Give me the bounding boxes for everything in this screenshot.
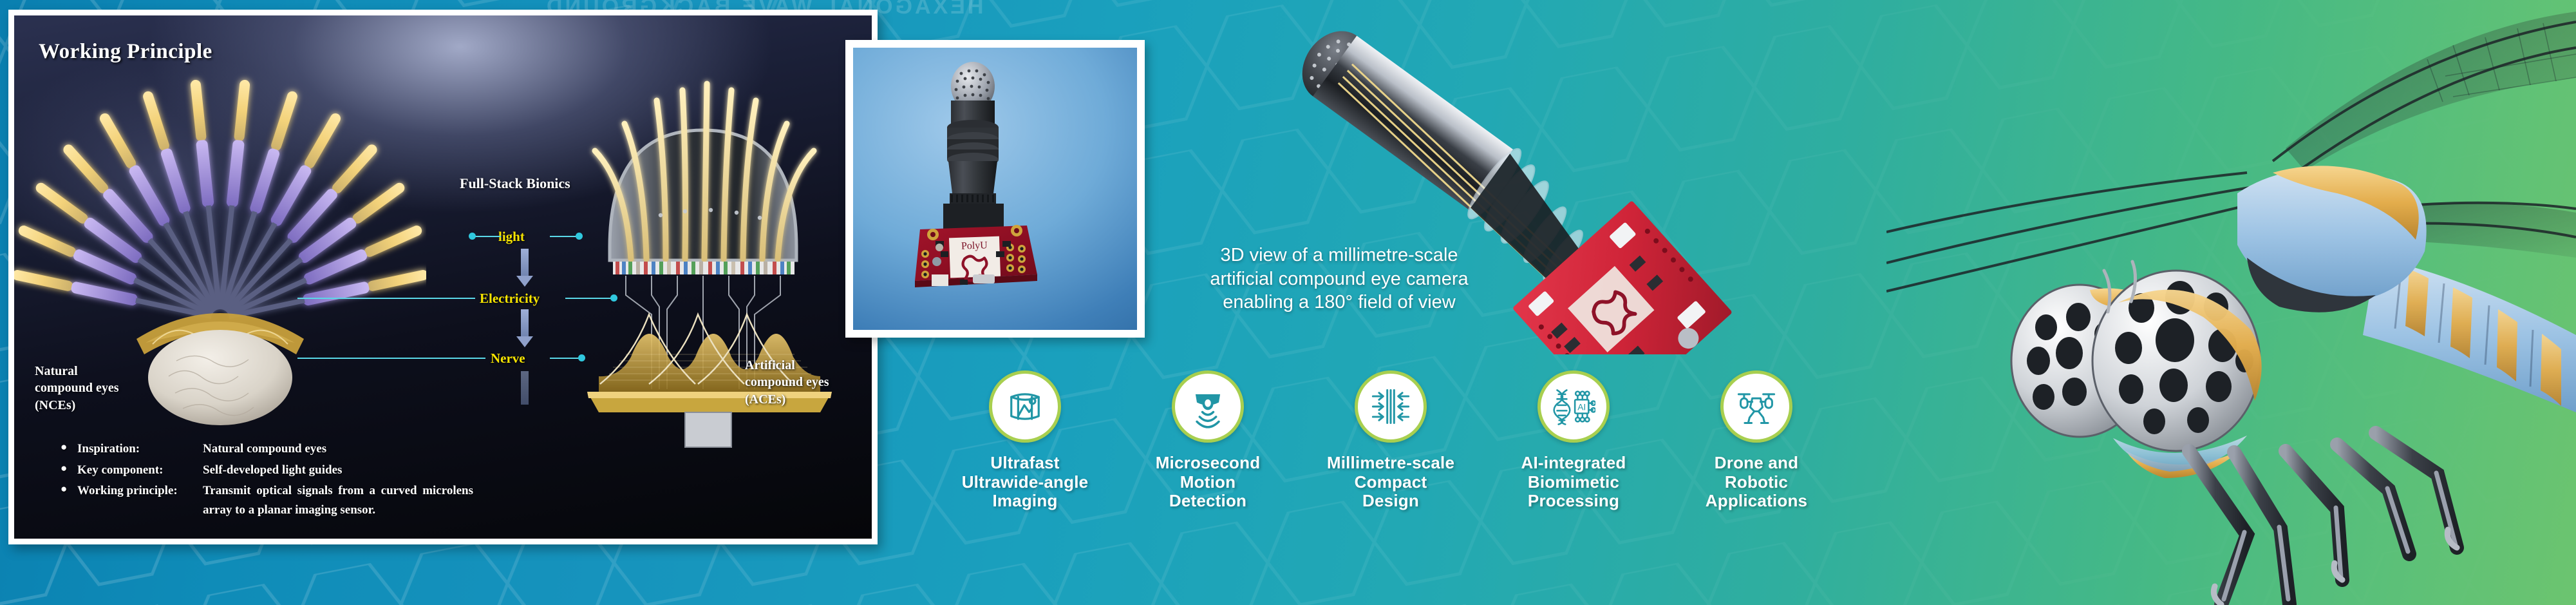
connector-line-electricity-right <box>565 298 614 299</box>
bullet-marker: ● <box>61 461 77 477</box>
page-title: Working Principle <box>39 40 212 64</box>
camera-module-photo: PolyU <box>853 48 1137 330</box>
feature-icon-circle <box>1720 370 1792 443</box>
motion-sensor-icon <box>1186 385 1230 428</box>
nce-line-3: (NCEs) <box>35 397 119 414</box>
bullet-value: Transmit optical signals from a curved m… <box>203 481 473 519</box>
connector-dot-light-left <box>469 233 476 240</box>
feature-label: Microsecond Motion Detection <box>1156 454 1261 511</box>
feature-item-compact-design[interactable]: Millimetre-scale Compact Design <box>1299 370 1482 599</box>
bullet-marker: ● <box>61 439 77 456</box>
bullet-row-working-principle: ● Working principle: Transmit optical si… <box>61 481 794 519</box>
connector-line-light-right <box>550 236 578 237</box>
feature-label: Drone and Robotic Applications <box>1706 454 1807 511</box>
render-caption-line-1: 3D view of a millimetre-scale <box>1156 244 1523 267</box>
bullet-row-key-component: ● Key component: Self-developed light gu… <box>61 461 794 480</box>
nce-line-1: Natural <box>35 363 119 379</box>
connector-line-electricity-left <box>297 298 475 299</box>
feature-item-motion-detection[interactable]: Microsecond Motion Detection <box>1116 370 1299 599</box>
render-caption-line-2: artificial compound eye camera <box>1156 267 1523 291</box>
feature-label: AI-integrated Biomimetic Processing <box>1521 454 1626 511</box>
feature-item-drone-robotics[interactable]: Drone and Robotic Applications <box>1665 370 1848 599</box>
natural-compound-eyes-label: Natural compound eyes (NCEs) <box>35 363 119 414</box>
feature-item-ai-biomimetic[interactable]: AI AI-integrated Biomimetic Processing <box>1482 370 1665 599</box>
render-caption: 3D view of a millimetre-scale artificial… <box>1156 244 1523 314</box>
feature-icon-circle <box>1355 370 1427 443</box>
connector-line-nerve-right <box>550 358 582 359</box>
feature-icons-row: Ultrafast Ultrawide-angle Imaging Micros… <box>934 370 1848 599</box>
feature-icon-circle: AI <box>1537 370 1610 443</box>
chain-label-nerve: Nerve <box>491 351 525 367</box>
connector-dot-nerve <box>578 354 585 361</box>
bullet-row-inspiration: ● Inspiration: Natural compound eyes <box>61 439 794 459</box>
flow-arrow-shaft-3 <box>521 371 529 405</box>
compress-arrows-icon <box>1369 385 1413 428</box>
connector-dot-light-right <box>576 233 583 240</box>
render-caption-line-3: enabling a 180° field of view <box>1156 291 1523 314</box>
chain-label-electricity: Electricity <box>480 291 540 307</box>
poster-canvas: HEXAGONAL WAVE BACKGROUND Working Princi… <box>0 0 2576 605</box>
polyu-logo-text: PolyU <box>961 240 988 251</box>
bullet-key: Key component: <box>77 461 203 480</box>
flow-arrow-shaft-2 <box>521 309 529 338</box>
bullet-value: Natural compound eyes <box>203 439 794 459</box>
flow-arrow-shaft-1 <box>521 249 529 277</box>
drone-icon <box>1735 385 1778 428</box>
full-stack-bionics-label: Full-Stack Bionics <box>460 175 570 192</box>
robotic-dragonfly-illustration <box>1886 0 2576 605</box>
connector-dot-electricity <box>610 294 617 302</box>
feature-item-ultrafast-imaging[interactable]: Ultrafast Ultrawide-angle Imaging <box>934 370 1116 599</box>
feature-label: Ultrafast Ultrawide-angle Imaging <box>962 454 1089 511</box>
flow-arrow-head-1 <box>516 276 533 287</box>
bullet-value: Self-developed light guides <box>203 461 794 480</box>
nce-line-2: compound eyes <box>35 379 119 396</box>
flow-arrow-head-2 <box>516 336 533 347</box>
ai-chip-label: AI <box>1577 401 1586 412</box>
bullet-marker: ● <box>61 481 77 497</box>
artificial-compound-eyes-label: Artificial compound eyes (ACEs) <box>745 357 829 408</box>
feature-icon-circle <box>989 370 1061 443</box>
bullet-key: Working principle: <box>77 481 203 501</box>
panorama-image-icon <box>1003 385 1047 428</box>
feature-icon-circle <box>1172 370 1244 443</box>
connector-line-light-left <box>474 236 501 237</box>
camera-module-photo-content: PolyU <box>853 48 1137 330</box>
ace-line-2: compound eyes <box>745 374 829 390</box>
feature-label: Millimetre-scale Compact Design <box>1327 454 1454 511</box>
bullet-key: Inspiration: <box>77 439 203 459</box>
working-principle-figure: Working Principle <box>14 15 872 539</box>
ace-line-1: Artificial <box>745 357 829 374</box>
chain-label-light: light <box>498 229 525 245</box>
dna-ai-chip-icon: AI <box>1552 385 1595 428</box>
working-principle-panel: Working Principle <box>8 10 878 544</box>
connector-line-nerve-left <box>297 358 485 359</box>
camera-module-photo-frame: PolyU <box>845 40 1145 338</box>
working-principle-bullets: ● Inspiration: Natural compound eyes ● K… <box>61 439 794 522</box>
ace-line-3: (ACEs) <box>745 391 829 408</box>
